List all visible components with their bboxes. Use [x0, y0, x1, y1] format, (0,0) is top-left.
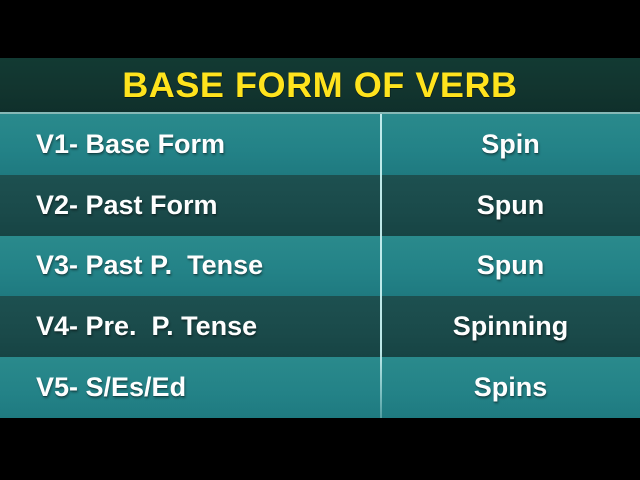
column-divider — [380, 114, 382, 418]
slide-canvas: BASE FORM OF VERB V1- Base Form Spin V2-… — [0, 0, 640, 480]
verb-form-label: V4- Pre. P. Tense — [0, 313, 381, 340]
verb-word-value: Spins — [381, 374, 640, 401]
verb-word-value: Spun — [381, 252, 640, 279]
letterbox-bottom — [0, 418, 640, 480]
table-row: V3- Past P. Tense Spun — [0, 236, 640, 297]
table-row: V2- Past Form Spun — [0, 175, 640, 236]
title-band: BASE FORM OF VERB — [0, 58, 640, 112]
verb-forms-table: V1- Base Form Spin V2- Past Form Spun V3… — [0, 114, 640, 418]
verb-form-label: V3- Past P. Tense — [0, 252, 381, 279]
letterbox-top — [0, 0, 640, 58]
table-row: V4- Pre. P. Tense Spinning — [0, 296, 640, 357]
verb-form-label: V1- Base Form — [0, 131, 381, 158]
verb-form-label: V5- S/Es/Ed — [0, 374, 381, 401]
verb-word-value: Spun — [381, 192, 640, 219]
verb-word-value: Spinning — [381, 313, 640, 340]
page-title: BASE FORM OF VERB — [122, 68, 517, 103]
table-row: V5- S/Es/Ed Spins — [0, 357, 640, 418]
verb-form-label: V2- Past Form — [0, 192, 381, 219]
slide-content: BASE FORM OF VERB V1- Base Form Spin V2-… — [0, 58, 640, 418]
table-row: V1- Base Form Spin — [0, 114, 640, 175]
verb-word-value: Spin — [381, 131, 640, 158]
